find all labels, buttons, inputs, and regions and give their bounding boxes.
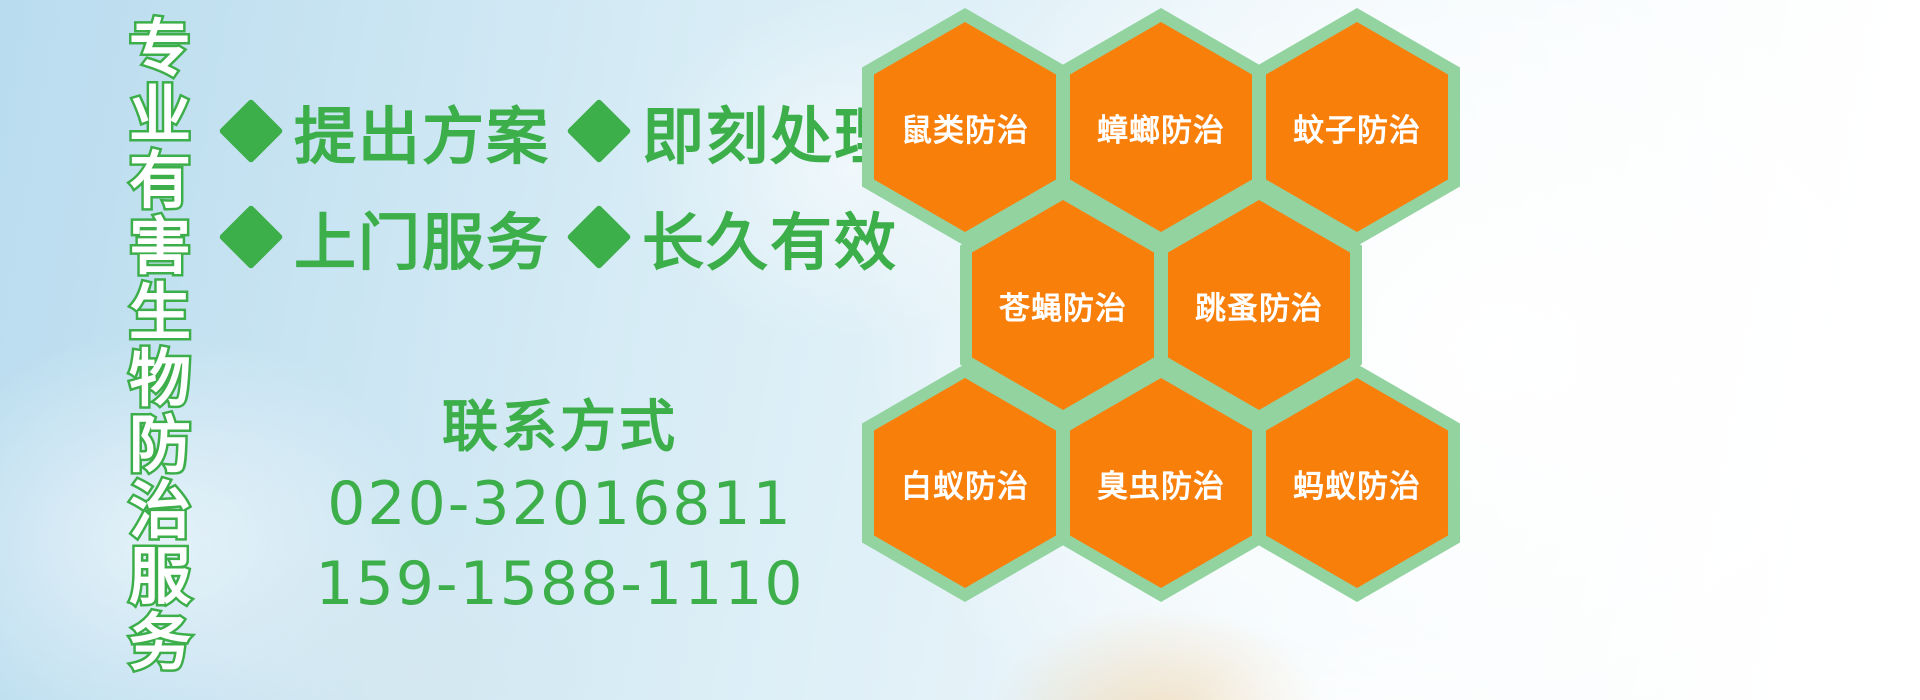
vertical-title-char: 生	[129, 280, 191, 346]
service-hex-label: 蚂蚁防治	[1293, 461, 1421, 506]
vertical-title-char: 害	[129, 214, 191, 280]
vertical-title-char: 防	[129, 412, 191, 478]
phone-number-landline[interactable]: 020-32016811	[300, 464, 820, 544]
feature-label: 提出方案	[294, 86, 550, 176]
vertical-title-char: 物	[129, 346, 191, 412]
feature-label: 长久有效	[642, 192, 898, 282]
service-hex-fill: 蟑螂防治	[1070, 22, 1252, 232]
vertical-title-char: 务	[129, 610, 191, 676]
vertical-title-char: 服	[129, 544, 191, 610]
vertical-title-char: 专	[129, 16, 191, 82]
background-blotch	[1180, 620, 1600, 700]
phone-number-mobile[interactable]: 159-1588-1110	[300, 544, 820, 624]
diamond-icon	[566, 204, 631, 269]
feature-label: 即刻处理	[642, 86, 898, 176]
feature-label: 上门服务	[294, 192, 550, 282]
promo-banner: 专 业 有 害 生 物 防 治 服 务 提出方案 即刻处理 上门服务 长久有效 …	[0, 0, 1920, 700]
service-hex-label: 鼠类防治	[901, 105, 1029, 150]
service-hex-label: 蚊子防治	[1293, 105, 1421, 150]
contact-title: 联系方式	[300, 392, 820, 464]
service-hex-label: 跳蚤防治	[1195, 283, 1323, 328]
vertical-title-char: 有	[129, 148, 191, 214]
service-hex-label: 苍蝇防治	[999, 283, 1127, 328]
service-hex-fill: 跳蚤防治	[1168, 200, 1350, 410]
diamond-icon	[566, 98, 631, 163]
vertical-title-char: 业	[129, 82, 191, 148]
service-hex-fill: 臭虫防治	[1070, 378, 1252, 588]
contact-block: 联系方式 020-32016811 159-1588-1110	[300, 392, 820, 624]
service-honeycomb: 鼠类防治 蟑螂防治 蚊子防治 苍蝇防治 跳蚤防治 白蚁防治	[862, 0, 1462, 570]
vertical-title-char: 治	[129, 478, 191, 544]
diamond-icon	[218, 204, 283, 269]
service-hex-fill: 蚂蚁防治	[1266, 378, 1448, 588]
service-hex-fill: 鼠类防治	[874, 22, 1056, 232]
background-blotch	[980, 600, 1340, 700]
service-hex-fill: 苍蝇防治	[972, 200, 1154, 410]
feature-row: 提出方案 即刻处理	[228, 78, 868, 184]
service-hex-fill: 蚊子防治	[1266, 22, 1448, 232]
feature-row: 上门服务 长久有效	[228, 184, 868, 290]
diamond-icon	[218, 98, 283, 163]
service-hex-fill: 白蚁防治	[874, 378, 1056, 588]
service-hex-label: 臭虫防治	[1097, 461, 1225, 506]
vertical-title: 专 业 有 害 生 物 防 治 服 务	[104, 16, 216, 684]
service-hex-label: 白蚁防治	[901, 461, 1029, 506]
service-hex-label: 蟑螂防治	[1097, 105, 1225, 150]
feature-list: 提出方案 即刻处理 上门服务 长久有效	[228, 78, 868, 290]
